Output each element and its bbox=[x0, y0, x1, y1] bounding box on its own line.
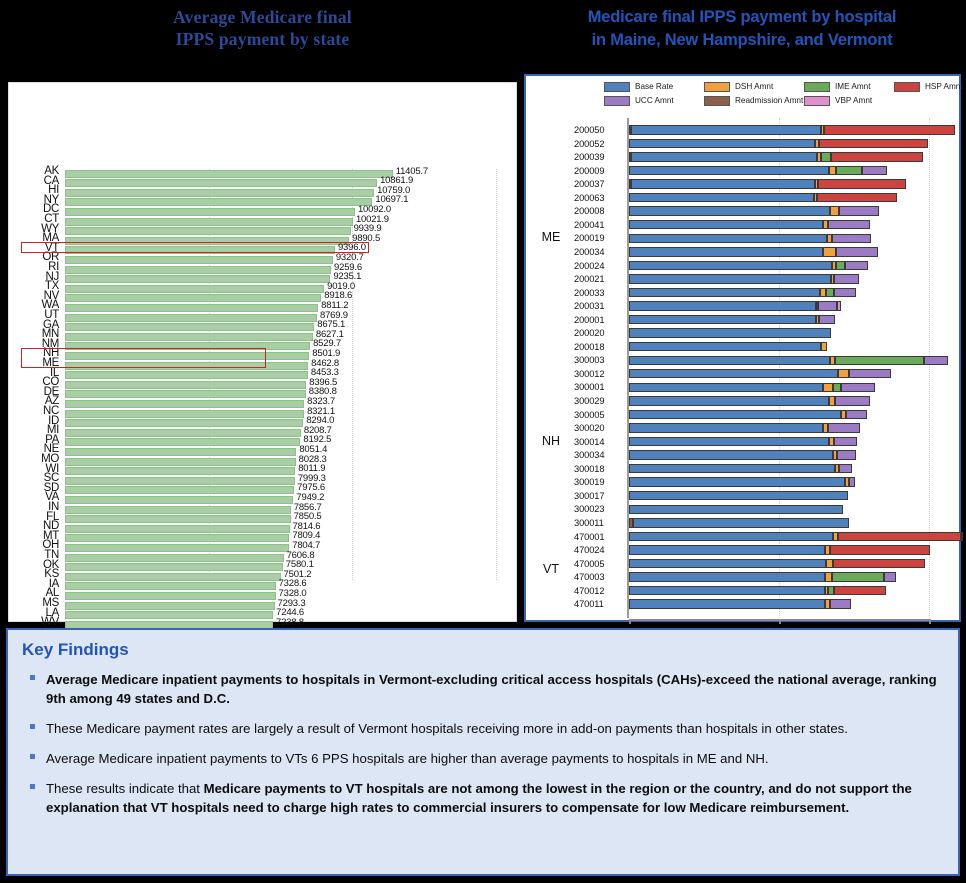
legend-label: UCC Amnt bbox=[635, 95, 674, 106]
state-bar-row: ND7814.6 bbox=[9, 524, 518, 533]
state-bar-row: ME8462.8 bbox=[9, 361, 518, 370]
hospital-bar-segment bbox=[838, 532, 960, 541]
left-chart-title-line1: Average Medicare final bbox=[10, 6, 515, 28]
state-bar bbox=[65, 304, 318, 312]
hospital-bar-segment bbox=[826, 559, 834, 568]
hospital-bar-segment bbox=[631, 179, 815, 188]
legend-swatch bbox=[604, 82, 630, 92]
hospital-stacked-bar bbox=[629, 206, 879, 215]
hospital-bar-segment bbox=[821, 152, 831, 161]
hospital-id-label: 470012 bbox=[574, 586, 632, 596]
state-bar-row: RI9259.6 bbox=[9, 265, 518, 274]
hospital-bar-row: 200031 bbox=[526, 299, 959, 313]
hospital-id-label: 200021 bbox=[574, 274, 632, 284]
hospital-bar-row: 470012 bbox=[526, 584, 959, 598]
hospital-chart-panel: Base RateDSH AmntIME AmntHSP AmntUCC Amn… bbox=[524, 74, 961, 622]
hospital-bar-segment bbox=[629, 247, 823, 256]
state-bar bbox=[65, 400, 304, 408]
hospital-group-label: ME bbox=[532, 230, 570, 244]
hospital-bar-row: 300011 bbox=[526, 516, 959, 530]
hospital-id-label: 200024 bbox=[574, 261, 632, 271]
hospital-bar-segment bbox=[836, 261, 844, 270]
state-bar-row: TX9019.0 bbox=[9, 284, 518, 293]
hospital-bar-segment bbox=[629, 274, 831, 283]
state-bar-row: MA9890.5 bbox=[9, 236, 518, 245]
hospital-bar-segment bbox=[629, 586, 825, 595]
hospital-bar-segment bbox=[629, 301, 816, 310]
hospital-stacked-bar bbox=[629, 450, 856, 459]
hospital-bar-segment bbox=[629, 559, 826, 568]
state-bar-row: OH7804.7 bbox=[9, 543, 518, 552]
hospital-bar-segment bbox=[835, 396, 870, 405]
bullet-icon bbox=[30, 754, 35, 759]
hospital-bar-row: 200021 bbox=[526, 272, 959, 286]
hospital-bar-segment bbox=[629, 572, 825, 581]
hospital-bar-segment bbox=[818, 179, 906, 188]
state-bar-row: WI8011.9 bbox=[9, 467, 518, 476]
legend-swatch bbox=[804, 82, 830, 92]
hospital-bar-segment bbox=[830, 545, 931, 554]
state-bar bbox=[65, 333, 313, 341]
state-bar bbox=[65, 314, 317, 322]
hospital-stacked-bar bbox=[629, 356, 948, 365]
state-bar-row: TN7606.8 bbox=[9, 553, 518, 562]
hospital-id-label: 470005 bbox=[574, 559, 632, 569]
hospital-bar-segment bbox=[830, 599, 850, 608]
right-chart-title-line2: in Maine, New Hampshire, and Vermont bbox=[524, 29, 960, 52]
hospital-bar-segment bbox=[829, 166, 836, 175]
hospital-bar-segment bbox=[629, 383, 823, 392]
state-bar bbox=[65, 189, 374, 197]
key-finding-text: These Medicare payment rates are largely… bbox=[46, 719, 944, 738]
hospital-bar-row: 200033 bbox=[526, 286, 959, 300]
state-bar-row: NE8051.4 bbox=[9, 447, 518, 456]
hospital-stacked-bar bbox=[629, 166, 887, 175]
state-bar-row: LA7244.6 bbox=[9, 611, 518, 620]
hospital-bar-segment bbox=[834, 586, 886, 595]
hospital-bar-row: 300029 bbox=[526, 394, 959, 408]
hospital-bar-row: 300014 bbox=[526, 435, 959, 449]
state-bar-row: AZ8323.7 bbox=[9, 399, 518, 408]
hospital-id-label: 200008 bbox=[574, 206, 632, 216]
hospital-bar-segment bbox=[830, 206, 839, 215]
hospital-id-label: 300012 bbox=[574, 369, 632, 379]
hospital-bar-segment bbox=[833, 383, 841, 392]
hospital-bar-segment bbox=[629, 505, 843, 514]
hospital-stacked-bar bbox=[629, 545, 930, 554]
hospital-id-label: 300001 bbox=[574, 382, 632, 392]
hospital-id-label: 200041 bbox=[574, 220, 632, 230]
hospital-id-label: 200034 bbox=[574, 247, 632, 257]
legend-swatch bbox=[804, 96, 830, 106]
hospital-stacked-bar bbox=[629, 342, 827, 351]
hospital-bar-segment bbox=[629, 464, 835, 473]
hospital-stacked-bar bbox=[629, 572, 896, 581]
hospital-bar-segment bbox=[838, 369, 850, 378]
state-bar bbox=[65, 582, 276, 590]
hospital-bar-segment bbox=[837, 301, 841, 310]
state-bar-value: 7804.7 bbox=[292, 541, 320, 551]
state-bar bbox=[65, 525, 290, 533]
state-bar bbox=[65, 256, 333, 264]
hospital-stacked-bar bbox=[629, 477, 855, 486]
hospital-bar-segment bbox=[819, 139, 928, 148]
state-bar bbox=[65, 227, 351, 235]
hospital-bar-segment bbox=[836, 247, 878, 256]
state-bar-value: 8811.2 bbox=[321, 301, 348, 311]
state-bar-value: 9320.7 bbox=[336, 253, 364, 263]
hospital-bar-segment bbox=[629, 599, 825, 608]
state-bar bbox=[65, 515, 291, 523]
hospital-bar-segment bbox=[629, 491, 848, 500]
state-bar-value: 7949.2 bbox=[296, 493, 324, 503]
hospital-bar-row: 200052 bbox=[526, 137, 959, 151]
hospital-bar-segment bbox=[817, 193, 897, 202]
hospital-bar-segment bbox=[629, 193, 814, 202]
hospital-bar-segment bbox=[629, 288, 820, 297]
state-bar bbox=[65, 544, 289, 552]
state-bar bbox=[65, 371, 308, 379]
legend-label: Base Rate bbox=[635, 81, 673, 92]
hospital-bar-row: 300019 bbox=[526, 475, 959, 489]
hospital-id-label: 200018 bbox=[574, 342, 632, 352]
hospital-stacked-bar bbox=[629, 410, 867, 419]
hospital-bar-segment bbox=[629, 396, 829, 405]
state-bar bbox=[65, 458, 296, 466]
hospital-bar-segment bbox=[839, 206, 880, 215]
hospital-bar-row: 200019 bbox=[526, 231, 959, 245]
slide-root: { "titles": { "left_line1": "Average Med… bbox=[0, 0, 966, 883]
hospital-id-label: 200050 bbox=[574, 125, 632, 135]
state-bar bbox=[65, 266, 331, 274]
hospital-bar-segment bbox=[629, 437, 829, 446]
hospital-bar-segment bbox=[834, 288, 856, 297]
state-bar-value: 10092.0 bbox=[358, 205, 391, 215]
hospital-stacked-bar bbox=[629, 274, 859, 283]
hospital-id-label: 470011 bbox=[574, 599, 632, 609]
key-finding-text: Average Medicare inpatient payments to V… bbox=[46, 749, 944, 768]
hospital-bar-segment bbox=[629, 206, 830, 215]
hospital-stacked-bar bbox=[629, 586, 886, 595]
left-chart-title-line2: IPPS payment by state bbox=[10, 28, 515, 50]
key-finding-item: Average Medicare inpatient payments to h… bbox=[22, 670, 944, 708]
right-chart-title-line1: Medicare final IPPS payment by hospital bbox=[524, 6, 960, 29]
state-bar-row: NH8501.9 bbox=[9, 351, 518, 360]
state-bar bbox=[65, 208, 355, 216]
hospital-bar-segment bbox=[629, 545, 825, 554]
hospital-bar-segment bbox=[629, 532, 833, 541]
state-bar-row: WY9939.9 bbox=[9, 227, 518, 236]
hospital-bar-row: 300012 bbox=[526, 367, 959, 381]
state-bar bbox=[65, 467, 295, 475]
hospital-id-label: 300014 bbox=[574, 437, 632, 447]
hospital-id-label: 200052 bbox=[574, 139, 632, 149]
hospital-stacked-bar bbox=[629, 423, 860, 432]
hospital-bar-row: 200009 bbox=[526, 164, 959, 178]
hospital-stacked-bar bbox=[629, 288, 856, 297]
state-bar bbox=[65, 534, 289, 542]
state-bar bbox=[65, 275, 330, 283]
hospital-bar-row: 200034 bbox=[526, 245, 959, 259]
hospital-id-label: 470024 bbox=[574, 545, 632, 555]
hospital-bar-row: 200008 bbox=[526, 204, 959, 218]
state-bar-row: OK7580.1 bbox=[9, 563, 518, 572]
hospital-id-label: 300034 bbox=[574, 450, 632, 460]
hospital-stacked-bar bbox=[629, 139, 928, 148]
hospital-id-label: 200037 bbox=[574, 179, 632, 189]
hospital-bar-segment bbox=[629, 328, 831, 337]
hospital-bar-segment bbox=[819, 315, 836, 324]
hospital-bar-segment bbox=[629, 166, 829, 175]
state-bar bbox=[65, 390, 306, 398]
hospital-stacked-bar bbox=[629, 464, 852, 473]
legend-swatch bbox=[604, 96, 630, 106]
state-bar-row: WA8811.2 bbox=[9, 303, 518, 312]
hospital-stacked-bar bbox=[629, 559, 925, 568]
hospital-stacked-bar bbox=[629, 301, 841, 310]
hospital-id-label: 470001 bbox=[574, 532, 632, 542]
hospital-stacked-bar bbox=[629, 315, 835, 324]
state-bar-value: 8501.9 bbox=[312, 349, 340, 359]
hospital-group-label: NH bbox=[532, 434, 570, 448]
state-bar bbox=[65, 506, 291, 514]
hospital-stacked-bar bbox=[629, 193, 897, 202]
legend-swatch bbox=[704, 96, 730, 106]
state-bar-row: CO8396.5 bbox=[9, 380, 518, 389]
hospital-bar-row: 200039 bbox=[526, 150, 959, 164]
hospital-bar-segment bbox=[629, 423, 823, 432]
hospital-chart-x-tick bbox=[779, 619, 781, 624]
hospital-bar-segment bbox=[821, 342, 827, 351]
hospital-bar-segment bbox=[629, 477, 845, 486]
hospital-bar-segment bbox=[629, 261, 832, 270]
hospital-chart-x-tick bbox=[929, 619, 931, 624]
hospital-bar-segment bbox=[825, 572, 832, 581]
hospital-stacked-bar bbox=[629, 599, 851, 608]
state-bar-row: MT7809.4 bbox=[9, 534, 518, 543]
state-bar-row: UT8769.9 bbox=[9, 313, 518, 322]
state-bar-row: CA10861.9 bbox=[9, 179, 518, 188]
hospital-bar-row: 200018 bbox=[526, 340, 959, 354]
state-bar-row: MN8627.1 bbox=[9, 332, 518, 341]
state-bar bbox=[65, 294, 321, 302]
state-bar-row: NC8321.1 bbox=[9, 409, 518, 418]
hospital-stacked-bar bbox=[629, 383, 875, 392]
state-bar-row: IL8453.3 bbox=[9, 371, 518, 380]
hospital-stacked-bar bbox=[629, 125, 955, 134]
hospital-stacked-bar bbox=[629, 369, 891, 378]
hospital-id-label: 300018 bbox=[574, 464, 632, 474]
hospital-stacked-bar bbox=[629, 179, 906, 188]
legend-swatch bbox=[704, 82, 730, 92]
key-finding-item: These results indicate that Medicare pay… bbox=[22, 779, 944, 817]
hospital-bar-row: 470001 bbox=[526, 530, 959, 544]
hospital-bar-segment bbox=[834, 437, 857, 446]
hospital-bar-segment bbox=[629, 234, 827, 243]
hospital-id-label: 300005 bbox=[574, 410, 632, 420]
hospital-bar-row: 200020 bbox=[526, 326, 959, 340]
state-bar bbox=[65, 438, 300, 446]
hospital-group-label: VT bbox=[532, 562, 570, 576]
hospital-stacked-bar bbox=[629, 518, 849, 527]
state-bar bbox=[65, 477, 295, 485]
hospital-bar-segment bbox=[831, 152, 923, 161]
state-bar-row: CT10021.9 bbox=[9, 217, 518, 226]
state-bar bbox=[65, 410, 304, 418]
hospital-stacked-bar bbox=[629, 234, 871, 243]
hospital-stacked-bar bbox=[629, 437, 857, 446]
hospital-bar-segment bbox=[849, 369, 891, 378]
state-bar bbox=[65, 352, 309, 360]
state-bar-row: MI8208.7 bbox=[9, 428, 518, 437]
hospital-bar-row: 300023 bbox=[526, 502, 959, 516]
hospital-id-label: 300023 bbox=[574, 504, 632, 514]
key-finding-text: Average Medicare inpatient payments to h… bbox=[46, 670, 944, 708]
hospital-bar-segment bbox=[837, 450, 855, 459]
state-bar bbox=[65, 323, 314, 331]
hospital-stacked-bar bbox=[629, 261, 868, 270]
bullet-icon bbox=[30, 675, 35, 680]
state-bar-value: 8051.4 bbox=[299, 445, 327, 455]
state-bar bbox=[65, 246, 335, 254]
hospital-bar-row: 470005 bbox=[526, 557, 959, 571]
state-bar-row: NY10697.1 bbox=[9, 198, 518, 207]
hospital-id-label: 200031 bbox=[574, 301, 632, 311]
state-bar-row: NV8918.6 bbox=[9, 294, 518, 303]
hospital-bar-segment bbox=[633, 518, 848, 527]
hospital-bar-segment bbox=[849, 477, 856, 486]
hospital-id-label: 200009 bbox=[574, 166, 632, 176]
hospital-id-label: 200039 bbox=[574, 152, 632, 162]
hospital-bar-segment bbox=[629, 139, 815, 148]
hospital-stacked-bar bbox=[629, 396, 870, 405]
state-bar bbox=[65, 179, 377, 187]
hospital-bar-segment bbox=[629, 342, 821, 351]
state-bar-row: KS7501.2 bbox=[9, 572, 518, 581]
hospital-id-label: 300029 bbox=[574, 396, 632, 406]
state-bar bbox=[65, 170, 393, 178]
hospital-bar-segment bbox=[629, 450, 833, 459]
state-chart-plot: AK11405.7CA10861.9HI10759.0NY10697.1DC10… bbox=[9, 83, 518, 623]
hospital-id-label: 200020 bbox=[574, 328, 632, 338]
hospital-bar-segment bbox=[823, 247, 835, 256]
right-chart-title: Medicare final IPPS payment by hospital … bbox=[524, 6, 960, 52]
legend-label: Readmission Amnt bbox=[735, 95, 803, 106]
hospital-id-label: 300017 bbox=[574, 491, 632, 501]
hospital-bar-segment bbox=[629, 220, 823, 229]
hospital-bar-segment bbox=[835, 356, 924, 365]
hospital-bar-row: 300018 bbox=[526, 462, 959, 476]
state-bar-row: ID8294.0 bbox=[9, 419, 518, 428]
hospital-bar-segment bbox=[629, 410, 841, 419]
hospital-bar-segment bbox=[846, 410, 868, 419]
state-bar bbox=[65, 611, 273, 619]
hospital-bar-segment bbox=[631, 125, 821, 134]
hospital-bar-segment bbox=[834, 274, 859, 283]
hospital-bar-row: 470011 bbox=[526, 597, 959, 611]
state-bar-row: GA8675.1 bbox=[9, 323, 518, 332]
state-bar-row: MO8028.3 bbox=[9, 457, 518, 466]
state-bar bbox=[65, 429, 301, 437]
hospital-id-label: 200063 bbox=[574, 193, 632, 203]
state-bar-row: IN7856.7 bbox=[9, 505, 518, 514]
state-bar-row: OR9320.7 bbox=[9, 255, 518, 264]
hospital-bar-segment bbox=[823, 383, 833, 392]
state-bar bbox=[65, 448, 296, 456]
state-bar bbox=[65, 237, 349, 245]
hospital-bar-segment bbox=[818, 301, 837, 310]
hospital-id-label: 300011 bbox=[574, 518, 632, 528]
hospital-bar-segment bbox=[924, 356, 948, 365]
hospital-bar-segment bbox=[884, 572, 896, 581]
hospital-bar-segment bbox=[631, 152, 817, 161]
hospital-id-label: 200001 bbox=[574, 315, 632, 325]
hospital-bar-row: 200024 bbox=[526, 259, 959, 273]
hospital-bar-row: 200050 bbox=[526, 123, 959, 137]
state-bar-row: MS7293.3 bbox=[9, 601, 518, 610]
bullet-icon bbox=[30, 784, 35, 789]
state-bar-row: DE8380.8 bbox=[9, 390, 518, 399]
hospital-stacked-bar bbox=[629, 328, 831, 337]
legend-label: VBP Amnt bbox=[835, 95, 872, 106]
state-bar bbox=[65, 218, 353, 226]
state-bar-row: NM8529.7 bbox=[9, 342, 518, 351]
hospital-stacked-bar bbox=[629, 491, 848, 500]
hospital-chart-x-tick bbox=[629, 619, 631, 624]
hospital-bar-segment bbox=[845, 261, 869, 270]
hospital-stacked-bar bbox=[629, 532, 963, 541]
state-bar bbox=[65, 285, 324, 293]
hospital-bar-segment bbox=[832, 572, 885, 581]
hospital-stacked-bar bbox=[629, 247, 878, 256]
hospital-bar-segment bbox=[629, 315, 816, 324]
hospital-id-label: 200033 bbox=[574, 288, 632, 298]
legend-label: IME Amnt bbox=[835, 81, 871, 92]
hospital-bar-row: 300017 bbox=[526, 489, 959, 503]
hospital-bar-row: 200037 bbox=[526, 177, 959, 191]
state-bar bbox=[65, 602, 275, 610]
state-bar-row: FL7850.5 bbox=[9, 515, 518, 524]
state-bar-row: SC7999.3 bbox=[9, 476, 518, 485]
hospital-bar-segment bbox=[828, 220, 870, 229]
state-bar bbox=[65, 573, 281, 581]
state-bar bbox=[65, 419, 303, 427]
state-bar bbox=[65, 342, 310, 350]
state-chart-panel: AK11405.7CA10861.9HI10759.0NY10697.1DC10… bbox=[8, 82, 517, 622]
hospital-stacked-bar bbox=[629, 152, 923, 161]
state-bar-row: SD7975.6 bbox=[9, 486, 518, 495]
state-bar bbox=[65, 486, 294, 494]
state-bar bbox=[65, 496, 293, 504]
state-bar-row: AL7328.0 bbox=[9, 591, 518, 600]
state-bar-row: AK11405.7 bbox=[9, 169, 518, 178]
state-bar bbox=[65, 381, 306, 389]
state-bar bbox=[65, 198, 372, 206]
state-bar-row: VT9396.0 bbox=[9, 246, 518, 255]
hospital-bar-row: 300001 bbox=[526, 380, 959, 394]
hospital-bar-segment bbox=[629, 356, 830, 365]
hospital-chart-legend: Base RateDSH AmntIME AmntHSP AmntUCC Amn… bbox=[604, 81, 954, 111]
hospital-bar-row: 200001 bbox=[526, 313, 959, 327]
state-bar-value: 7328.0 bbox=[279, 589, 307, 599]
hospital-id-label: 300020 bbox=[574, 423, 632, 433]
hospital-bar-segment bbox=[828, 423, 860, 432]
bullet-icon bbox=[30, 724, 35, 729]
hospital-bar-row: 200063 bbox=[526, 191, 959, 205]
hospital-bar-row: 300003 bbox=[526, 353, 959, 367]
hospital-bar-segment bbox=[826, 288, 834, 297]
hospital-bar-row: 470003 bbox=[526, 570, 959, 584]
